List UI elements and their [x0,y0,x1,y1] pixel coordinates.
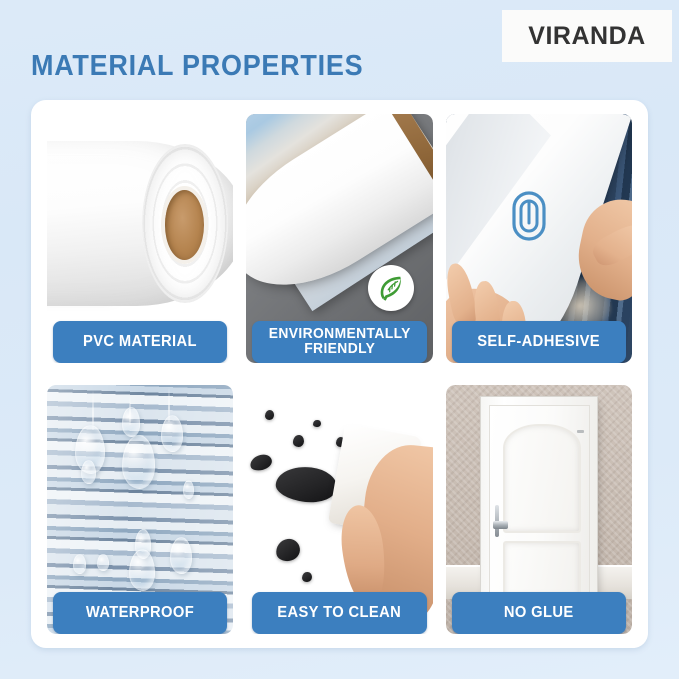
water-droplet [81,460,96,484]
feature-tile-self-adhesive[interactable]: SELF-ADHESIVE [446,114,632,363]
leaf-badge [368,265,414,311]
stain-mark [313,420,320,427]
stain-mark [302,572,311,582]
door-frame [481,397,597,606]
caption-bar: NO GLUE [452,592,626,634]
brand-name: VIRANDA [528,22,645,51]
stain-mark [274,464,339,506]
brand-logo: VIRANDA [502,10,672,62]
page-title: MATERIAL PROPERTIES [31,50,363,83]
caption-bar: EASY TO CLEAN [252,592,426,634]
roll-tip-shape [384,114,432,203]
water-droplet [97,554,108,571]
infographic-page: VIRANDA MATERIAL PROPERTIES PVC MATERIAL [0,0,679,679]
droplet-trail [92,390,94,430]
feature-tile-no-glue[interactable]: NO GLUE [446,385,632,634]
caption-bar: ENVIRONMENTALLYFRIENDLY [252,321,426,363]
caption-bar: PVC MATERIAL [53,321,227,363]
caption-bar: SELF-ADHESIVE [452,321,626,363]
water-droplet [122,407,141,436]
paperclip-badge [509,189,549,248]
leaf-icon [376,273,406,303]
water-droplet [161,415,183,452]
feature-tile-waterproof[interactable]: WATERPROOF [47,385,233,634]
paperclip-icon [509,189,549,243]
caption-label: NO GLUE [500,605,577,621]
door-hinge [577,430,584,433]
feature-card: PVC MATERIAL [31,100,648,648]
stain-mark [249,452,274,472]
stain-mark [275,538,302,564]
water-droplet [73,554,86,573]
caption-label: EASY TO CLEAN [274,605,405,621]
door-slab [489,405,590,609]
feature-grid: PVC MATERIAL [47,114,632,634]
caption-bar: WATERPROOF [53,592,227,634]
water-droplet [122,435,156,489]
door-panel-bottom [503,541,581,597]
door-panel-top [503,424,581,533]
feature-tile-easy-to-clean[interactable]: EASY TO CLEAN [246,385,432,634]
caption-label: WATERPROOF [82,605,198,621]
door-handle [493,521,508,529]
water-droplet [129,549,155,591]
caption-label: ENVIRONMENTALLYFRIENDLY [265,327,415,357]
stain-mark [293,435,304,447]
caption-label: SELF-ADHESIVE [474,334,604,350]
pvc-cardboard-core [165,190,204,260]
caption-label: PVC MATERIAL [79,334,201,350]
feature-tile-environmentally-friendly[interactable]: ENVIRONMENTALLYFRIENDLY [246,114,432,363]
stain-mark [265,410,274,420]
feature-tile-pvc-material[interactable]: PVC MATERIAL [47,114,233,363]
